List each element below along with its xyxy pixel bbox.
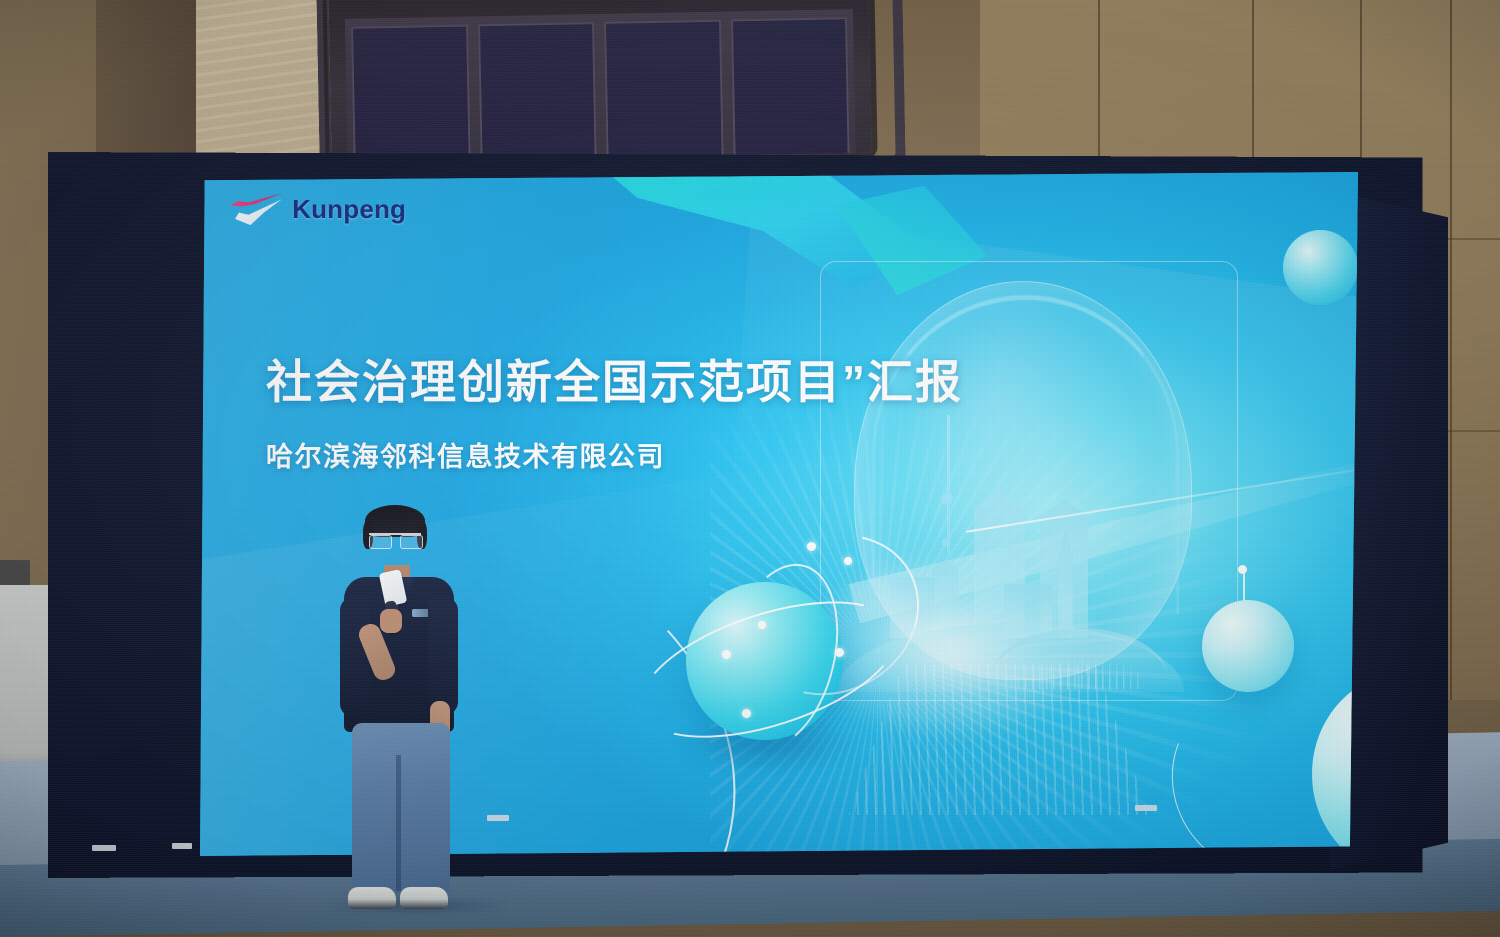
kunpeng-logo-text: Kunpeng [292,194,406,225]
decorative-sphere [1283,230,1358,305]
kunpeng-bird-icon [230,191,282,227]
conference-stage-photo: Kunpeng 社会治理创新全国示范项目”汇报 哈尔滨海邻科信息技术有限公司 [0,0,1500,937]
stage-tape-marker [487,815,509,821]
glasses-icon [369,533,421,547]
doorway-frame [328,0,871,163]
glass-dome-rim [872,295,1179,615]
presenter-shoe [348,887,396,909]
presenter-arm [428,597,458,715]
orbit-node [844,557,852,565]
presenter-shoe [400,887,448,909]
presenter-arm [340,597,370,717]
decorative-sphere [1202,600,1295,692]
orbit-node [758,621,766,629]
door-leaf [730,17,849,155]
stage-tape-marker [1135,805,1157,811]
slide-title: 社会治理创新全国示范项目”汇报 [266,346,963,412]
door-leaf [351,25,470,163]
orbit-node [835,648,844,657]
orbit-node [807,542,816,551]
presenter-hand [380,609,402,633]
orbit-node [742,709,751,718]
doorway-panels [345,9,856,163]
presenter-jeans [352,723,450,893]
kunpeng-logo: Kunpeng [230,191,406,227]
slide-subtitle: 哈尔滨海邻科信息技术有限公司 [266,435,665,474]
door-leaf [478,22,597,160]
stage-tape-marker [92,845,116,851]
door-leaf [604,20,723,158]
stage-tape-marker [172,843,192,849]
presenter-leg-separation [396,755,401,891]
sphere-stem-dot [1238,565,1247,574]
presenter [338,505,483,910]
